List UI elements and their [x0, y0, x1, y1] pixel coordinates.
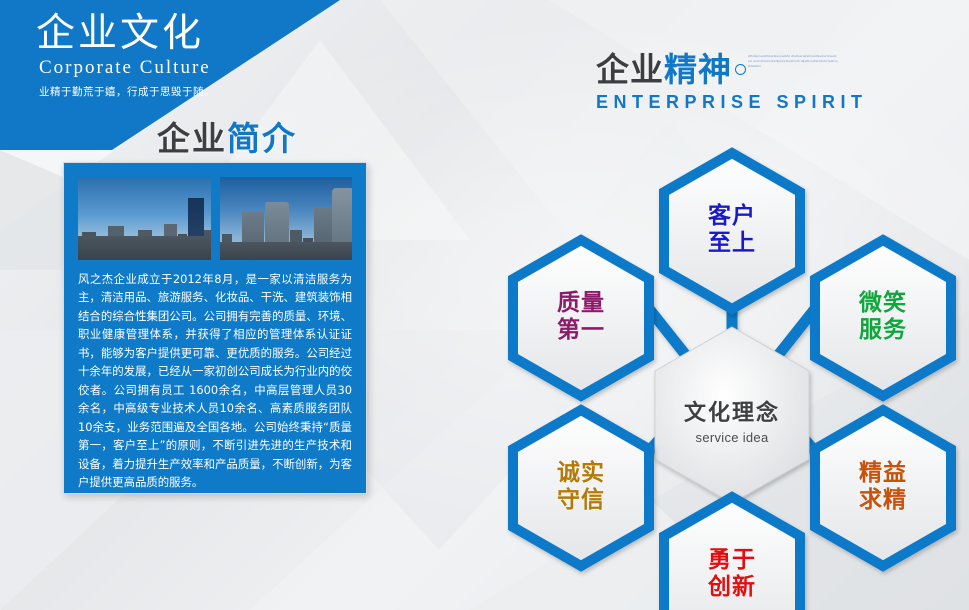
office-towers-photo — [220, 177, 353, 260]
intro-heading-part2: 简介 — [227, 119, 297, 158]
spirit-heading-cn: 企业精神 — [596, 52, 896, 88]
hex-node-customer-first[interactable] — [664, 153, 800, 309]
circle-dot-icon — [735, 64, 746, 75]
banner-title-en: Corporate Culture — [39, 57, 326, 79]
intro-heading: 企业简介 — [157, 112, 297, 160]
decorative-microtext: dfhdsjcnwshfdskfswmuckhl dhdfusrtsfsfcns… — [748, 54, 838, 68]
intro-card: 风之杰企业成立于2012年8月，是一家以清洁服务为主，清洁用品、旅游服务、化妆品… — [63, 162, 367, 494]
banner-title-cn: 企业文化 — [36, 14, 326, 55]
hex-node-integrity[interactable] — [513, 410, 649, 566]
corner-banner-text: 企业文化 Corporate Culture 业精于勤荒于嬉，行成于思毁于随。 — [36, 14, 326, 99]
intro-photo-row — [64, 163, 366, 260]
city-skyline-photo — [78, 177, 211, 260]
culture-hexagon-diagram: 文化理念 service idea 客户 至上 微笑 服务 精益 求精 勇于 创… — [495, 105, 969, 610]
intro-heading-part1: 企业 — [157, 119, 227, 158]
hex-node-quality-first[interactable] — [513, 240, 649, 396]
hex-node-innovation[interactable] — [664, 497, 800, 610]
spirit-heading-part1: 企业 — [596, 50, 664, 89]
banner-motto: 业精于勤荒于嬉，行成于思毁于随。 — [39, 84, 326, 99]
hex-center-title: 文化理念 — [632, 395, 832, 427]
intro-body-text: 风之杰企业成立于2012年8月，是一家以清洁服务为主，清洁用品、旅游服务、化妆品… — [64, 260, 366, 504]
hex-node-excellence[interactable] — [815, 410, 951, 566]
poster-canvas: 企业文化 Corporate Culture 业精于勤荒于嬉，行成于思毁于随。 … — [0, 0, 969, 610]
hex-node-smile-service[interactable] — [815, 240, 951, 396]
hexagon-graphic — [495, 105, 969, 610]
hex-center-subtitle: service idea — [632, 430, 832, 445]
spirit-heading-part2: 精神 — [664, 50, 732, 89]
